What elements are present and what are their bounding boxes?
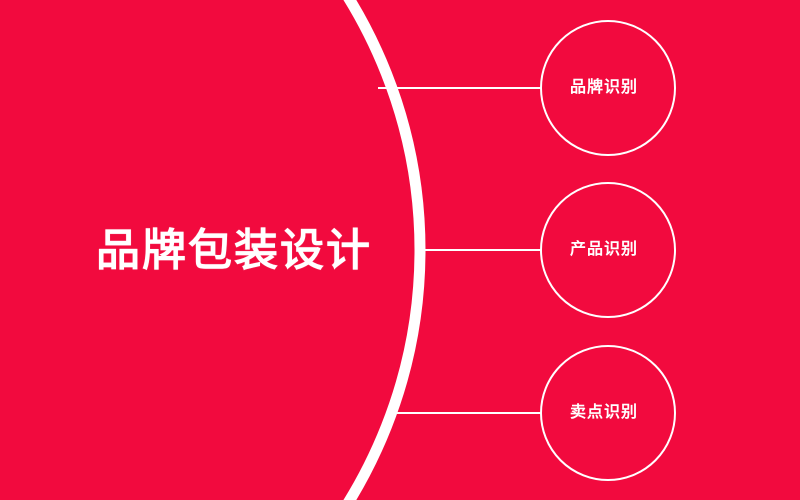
node-label-product-identity: 产品识别 bbox=[536, 241, 672, 259]
slide-canvas: 品牌包装设计 品牌识别 产品识别 卖点识别 bbox=[0, 0, 800, 500]
node-label-brand-identity: 品牌识别 bbox=[536, 79, 672, 97]
page-title: 品牌包装设计 bbox=[96, 225, 416, 277]
node-label-selling-point-identity: 卖点识别 bbox=[536, 404, 672, 422]
